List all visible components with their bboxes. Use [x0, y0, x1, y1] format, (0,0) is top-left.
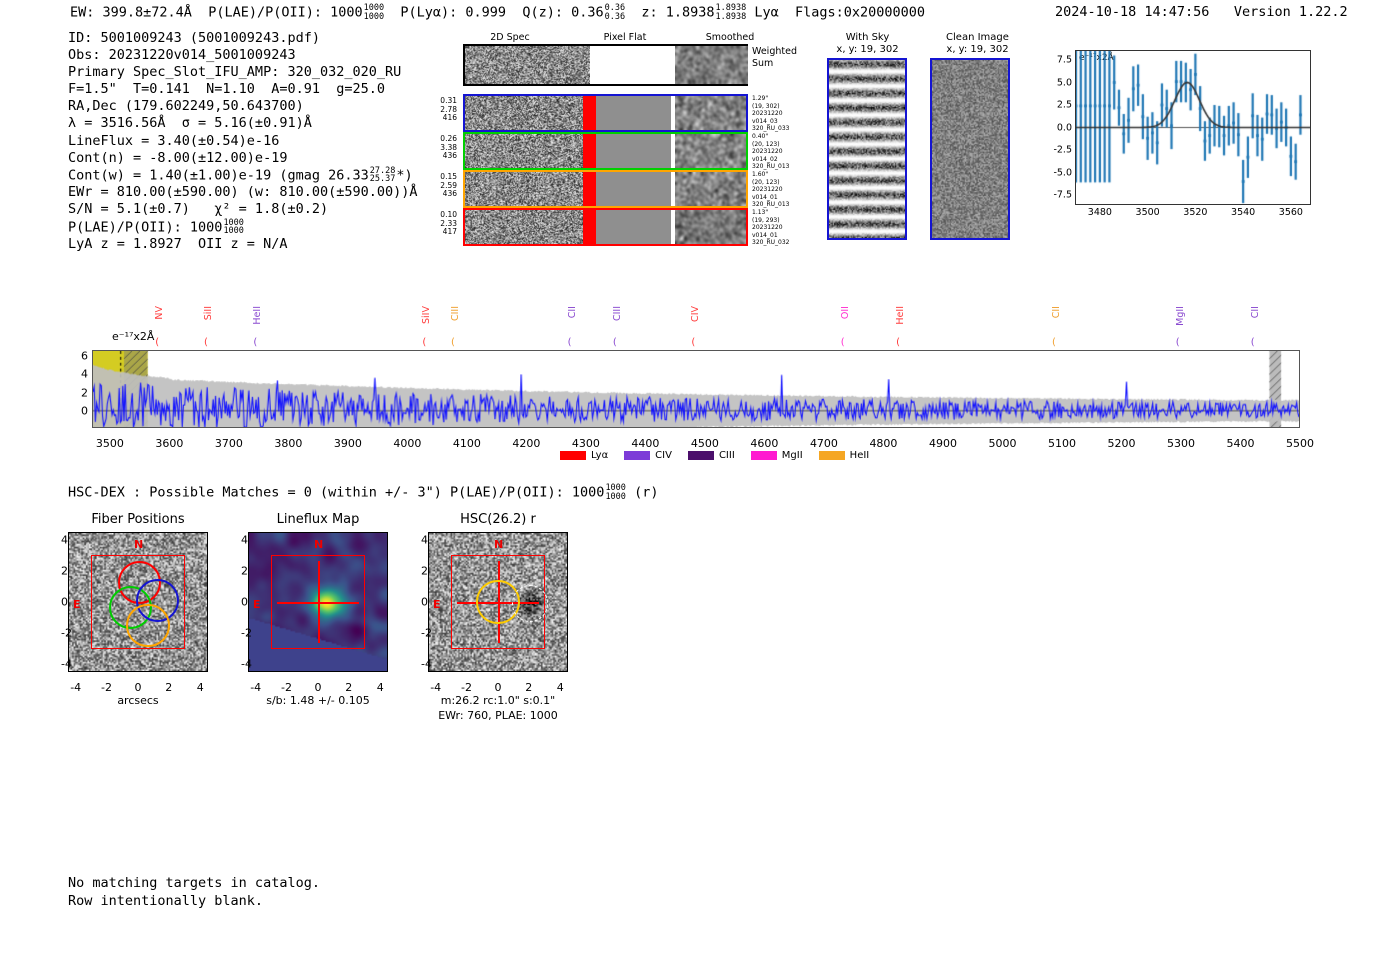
cutout-xtick: -2 [461, 681, 472, 694]
cutout-xtick: 2 [525, 681, 532, 694]
compass-east: E [433, 598, 441, 611]
cutout-title: Lineflux Map [228, 512, 408, 527]
cutout-caption-1: m:26.2 rc:1.0" s:0.1" [396, 694, 600, 707]
cutout-title: Fiber Positions [48, 512, 228, 527]
footer-note: No matching targets in catalog. Row inte… [68, 874, 320, 910]
cutout-xtick: 2 [345, 681, 352, 694]
fiber-circle [126, 604, 169, 647]
compass-north: N [314, 538, 323, 551]
cutout-xtick: -4 [70, 681, 81, 694]
cutout-xtick: 4 [377, 681, 384, 694]
cutout-crosshair-vertical [318, 561, 320, 642]
cutout-xtick: 2 [165, 681, 172, 694]
compass-east: E [253, 598, 261, 611]
cutout-xlabel: arcsecs [36, 694, 240, 707]
compass-north: N [494, 538, 503, 551]
cutout-xtick: 4 [197, 681, 204, 694]
compass-north: N [134, 538, 143, 551]
compass-east: E [73, 598, 81, 611]
cutout-xtick: -4 [430, 681, 441, 694]
footer-line-1: No matching targets in catalog. [68, 874, 320, 892]
cutout-title: HSC(26.2) r [408, 512, 588, 527]
footer-line-2: Row intentionally blank. [68, 892, 320, 910]
cutout-xtick: 0 [315, 681, 322, 694]
cutout-xtick: -2 [281, 681, 292, 694]
cutout-xtick: -2 [101, 681, 112, 694]
cutout-xtick: -4 [250, 681, 261, 694]
hsc-neighbor-circle [512, 585, 548, 621]
cutout-panels: Fiber Positions-4-2024420-2-4NE+arcsecsL… [0, 0, 1400, 953]
cutout-xtick: 4 [557, 681, 564, 694]
cutout-caption-2: EWr: 760, PLAE: 1000 [396, 709, 600, 722]
cutout-xtick: 0 [135, 681, 142, 694]
cutout-caption-1: s/b: 1.48 +/- 0.105 [216, 694, 420, 707]
cutout-xtick: 0 [495, 681, 502, 694]
